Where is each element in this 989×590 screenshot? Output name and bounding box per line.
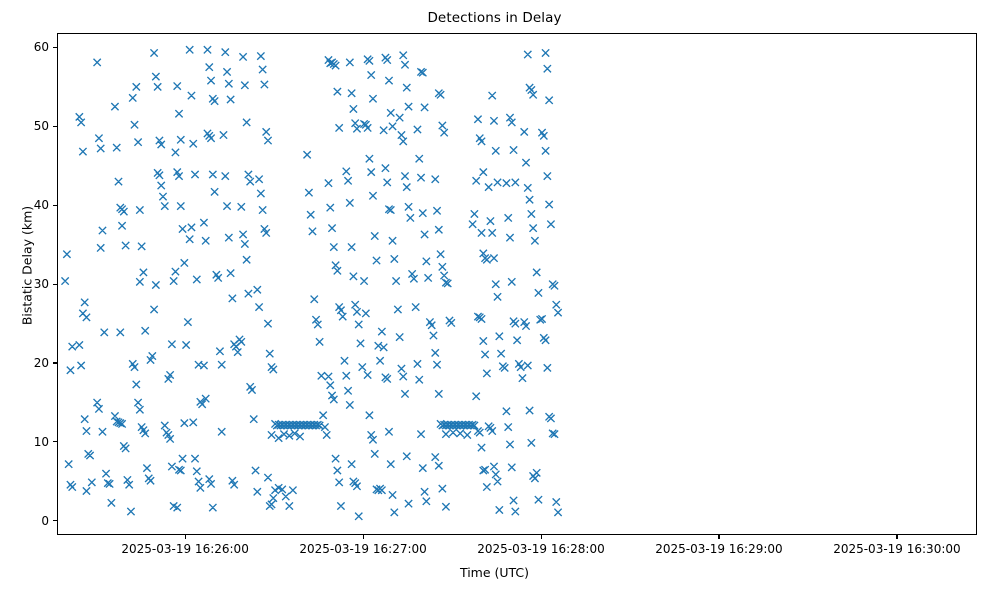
x-tick-mark [718, 535, 719, 539]
x-tick-mark [896, 535, 897, 539]
x-tick-label: 2025-03-19 16:30:00 [787, 542, 989, 556]
x-tick-label: 2025-03-19 16:29:00 [609, 542, 829, 556]
chart-title: Detections in Delay [0, 10, 989, 26]
x-tick-mark [185, 535, 186, 539]
plot-area[interactable] [57, 33, 977, 535]
x-tick-label: 2025-03-19 16:28:00 [431, 542, 651, 556]
x-tick-mark [363, 535, 364, 539]
y-axis-label: Bistatic Delay (km) [20, 46, 35, 486]
y-tick-label: 0 [3, 514, 49, 528]
x-axis-label: Time (UTC) [0, 565, 989, 580]
matplotlib-figure: Detections in Delay Bistatic Delay (km) … [0, 0, 989, 590]
x-tick-label: 2025-03-19 16:27:00 [253, 542, 473, 556]
x-tick-mark [541, 535, 542, 539]
x-tick-label: 2025-03-19 16:26:00 [75, 542, 295, 556]
scatter-markers [61, 46, 561, 520]
scatter-series [58, 34, 977, 535]
